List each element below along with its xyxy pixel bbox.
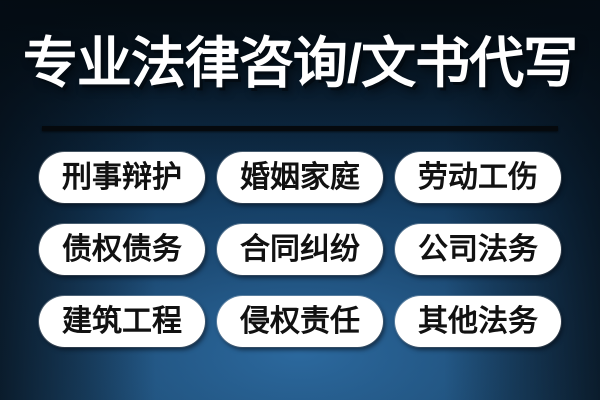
service-pill-construction-engineering[interactable]: 建筑工程 xyxy=(39,296,205,347)
legal-services-poster: 专业法律咨询/文书代写 刑事辩护 婚姻家庭 劳动工伤 债权债务 合同纠纷 公司法… xyxy=(0,0,600,400)
service-pill-other-legal[interactable]: 其他法务 xyxy=(395,296,561,347)
page-title: 专业法律咨询/文书代写 xyxy=(0,30,600,96)
service-pill-debt-credit[interactable]: 债权债务 xyxy=(39,224,205,275)
service-pill-contract-dispute[interactable]: 合同纠纷 xyxy=(217,224,383,275)
poster-content: 专业法律咨询/文书代写 刑事辩护 婚姻家庭 劳动工伤 债权债务 合同纠纷 公司法… xyxy=(0,0,600,400)
service-pill-grid: 刑事辩护 婚姻家庭 劳动工伤 债权债务 合同纠纷 公司法务 建筑工程 侵权责任 … xyxy=(0,152,600,347)
service-pill-corporate-legal[interactable]: 公司法务 xyxy=(395,224,561,275)
service-pill-tort-liability[interactable]: 侵权责任 xyxy=(217,296,383,347)
service-row: 刑事辩护 婚姻家庭 劳动工伤 xyxy=(39,152,561,203)
title-divider xyxy=(42,126,558,131)
service-pill-marriage-family[interactable]: 婚姻家庭 xyxy=(217,152,383,203)
service-row: 建筑工程 侵权责任 其他法务 xyxy=(39,296,561,347)
service-pill-labor-injury[interactable]: 劳动工伤 xyxy=(395,152,561,203)
service-pill-criminal-defense[interactable]: 刑事辩护 xyxy=(39,152,205,203)
service-row: 债权债务 合同纠纷 公司法务 xyxy=(39,224,561,275)
